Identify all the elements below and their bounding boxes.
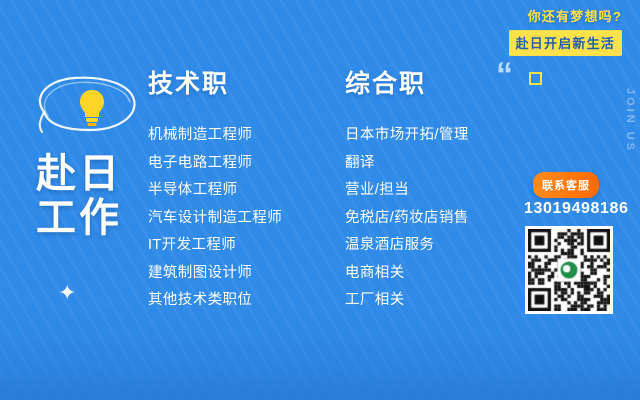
- side-label-join-us: JOIN US: [624, 88, 636, 153]
- job-list-technical: 机械制造工程师 电子电路工程师 半导体工程师 汽车设计制造工程师 IT开发工程师…: [148, 128, 282, 308]
- list-item: IT开发工程师: [148, 238, 282, 253]
- list-item: 免税店/药妆店销售: [345, 211, 469, 226]
- column-heading: 技术职: [148, 64, 282, 100]
- lightbulb-scribble-icon: [30, 72, 150, 146]
- sparkle-icon: ✦: [58, 282, 76, 304]
- qr-code[interactable]: [525, 226, 613, 314]
- list-item: 电商相关: [345, 266, 469, 281]
- list-item: 翻译: [345, 156, 469, 171]
- list-item: 电子电路工程师: [148, 156, 282, 171]
- headline: 你还有梦想吗? 赴日开启新生活: [509, 6, 622, 56]
- lightbulb-icon: [30, 72, 150, 146]
- list-item: 温泉酒店服务: [345, 238, 469, 253]
- left-block: 赴日 工作: [30, 72, 160, 240]
- job-list-general: 日本市场开拓/管理 翻译 营业/担当 免税店/药妆店销售 温泉酒店服务 电商相关…: [345, 128, 469, 308]
- page-title: 赴日 工作: [36, 152, 160, 240]
- list-item: 营业/担当: [345, 183, 469, 198]
- column-general: 综合职 日本市场开拓/管理 翻译 营业/担当 免税店/药妆店销售 温泉酒店服务 …: [345, 64, 469, 321]
- list-item: 半导体工程师: [148, 183, 282, 198]
- column-heading: 综合职: [345, 64, 469, 100]
- headline-line1: 你还有梦想吗?: [509, 6, 622, 25]
- poster-root: 你还有梦想吗? 赴日开启新生活 “ JOIN US 赴日 工作 ✦: [0, 0, 640, 400]
- page-title-line1: 赴日: [36, 152, 160, 196]
- list-item: 其他技术类职位: [148, 293, 282, 308]
- headline-line2: 赴日开启新生活: [509, 30, 622, 56]
- quote-icon: “: [496, 58, 511, 92]
- page-title-line2: 工作: [36, 196, 160, 240]
- list-item: 日本市场开拓/管理: [345, 128, 469, 143]
- phone-number: 13019498186: [524, 200, 628, 218]
- square-outline-icon: [529, 72, 542, 85]
- list-item: 汽车设计制造工程师: [148, 211, 282, 226]
- list-item: 工厂相关: [345, 293, 469, 308]
- bottom-gradient-overlay: [0, 304, 640, 400]
- contact-support-button[interactable]: 联系客服: [533, 172, 599, 198]
- list-item: 建筑制图设计师: [148, 266, 282, 281]
- list-item: 机械制造工程师: [148, 128, 282, 143]
- column-technical: 技术职 机械制造工程师 电子电路工程师 半导体工程师 汽车设计制造工程师 IT开…: [148, 64, 282, 321]
